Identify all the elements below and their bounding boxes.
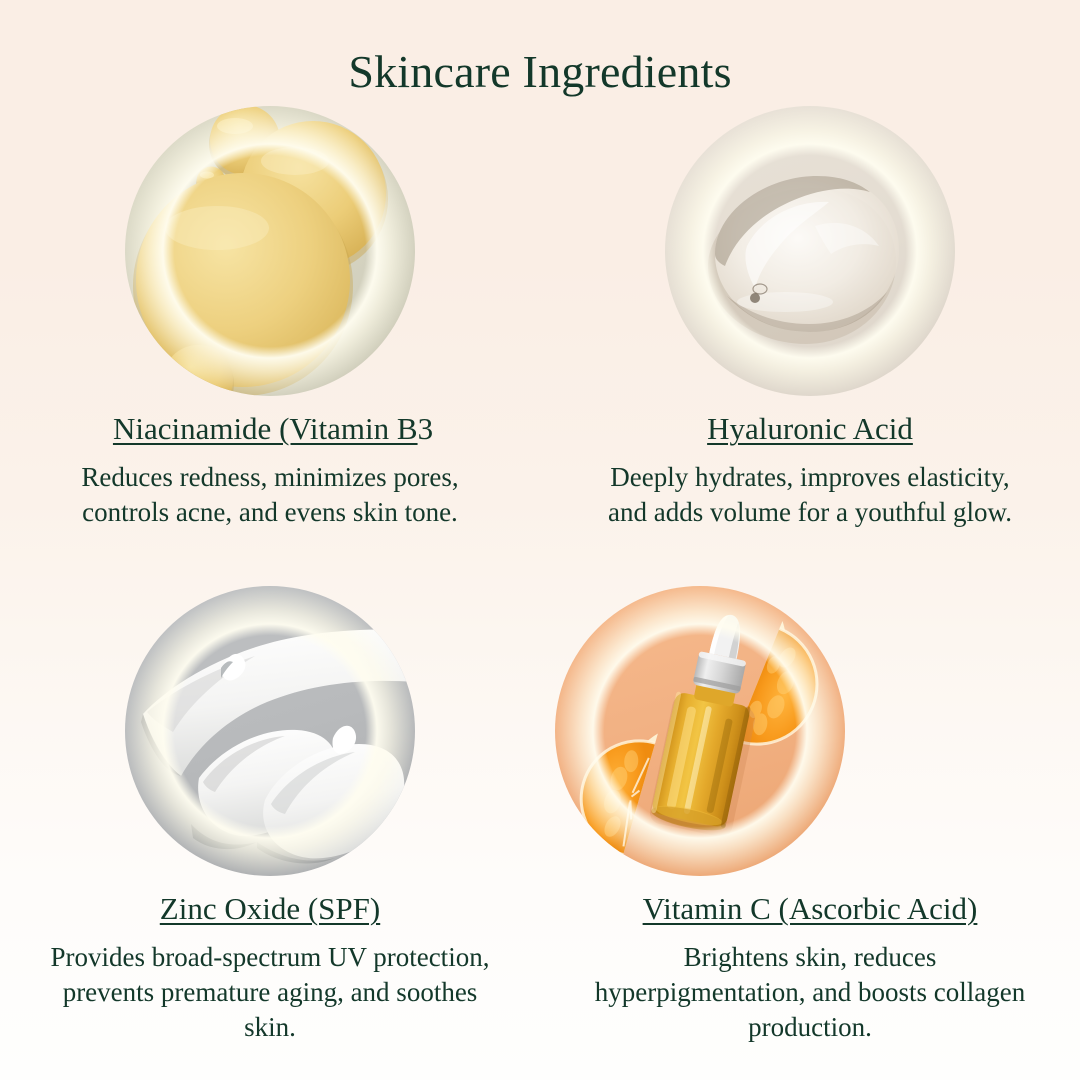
heading-underlined-part: Niacinamide (Vitamin B	[113, 411, 418, 446]
ingredient-description: Provides broad-spectrum UV protection, p…	[0, 940, 540, 1045]
ingredient-description: Brightens skin, reduces hyperpigmentatio…	[540, 940, 1080, 1045]
ingredient-heading: Vitamin C (Ascorbic Acid)	[540, 890, 1080, 928]
ingredient-heading: Niacinamide (Vitamin B3	[6, 410, 540, 448]
heading-underlined-part: Hyaluronic Acid	[707, 411, 913, 446]
clear-gel-blob-photo	[665, 106, 955, 396]
ingredient-description: Reduces redness, minimizes pores, contro…	[0, 460, 540, 530]
heading-underlined-part: Zinc Oxide (SPF)	[160, 891, 380, 926]
card-text-block: Niacinamide (Vitamin B3 Reduces redness,…	[0, 410, 540, 530]
card-text-block: Zinc Oxide (SPF) Provides broad-spectrum…	[0, 890, 540, 1045]
serum-bottle-orange-slices-photo	[555, 586, 845, 876]
infographic-page: Skincare Ingredients	[0, 0, 1080, 1080]
heading-underlined-part: Vitamin C (Ascorbic Acid)	[643, 891, 978, 926]
oil-droplets-photo	[125, 106, 415, 396]
card-text-block: Hyaluronic Acid Deeply hydrates, improve…	[540, 410, 1080, 530]
ingredient-heading: Hyaluronic Acid	[540, 410, 1080, 448]
ingredient-card-hyaluronic-acid: Hyaluronic Acid Deeply hydrates, improve…	[540, 104, 1080, 584]
white-cream-swatch-photo	[125, 586, 415, 876]
photo-wrapper	[125, 106, 415, 396]
ingredient-description: Deeply hydrates, improves elasticity, an…	[540, 460, 1080, 530]
page-title: Skincare Ingredients	[0, 43, 1080, 101]
photo-wrapper	[665, 106, 955, 396]
heading-tail-part: 3	[418, 411, 434, 446]
ingredient-card-vitamin-c: Vitamin C (Ascorbic Acid) Brightens skin…	[540, 584, 1080, 1064]
ingredient-grid: Niacinamide (Vitamin B3 Reduces redness,…	[0, 104, 1080, 1064]
photo-wrapper	[125, 586, 415, 876]
ingredient-heading: Zinc Oxide (SPF)	[0, 890, 540, 928]
ingredient-card-niacinamide: Niacinamide (Vitamin B3 Reduces redness,…	[0, 104, 540, 584]
ingredient-card-zinc-oxide: Zinc Oxide (SPF) Provides broad-spectrum…	[0, 584, 540, 1064]
photo-wrapper	[555, 586, 845, 876]
card-text-block: Vitamin C (Ascorbic Acid) Brightens skin…	[540, 890, 1080, 1045]
